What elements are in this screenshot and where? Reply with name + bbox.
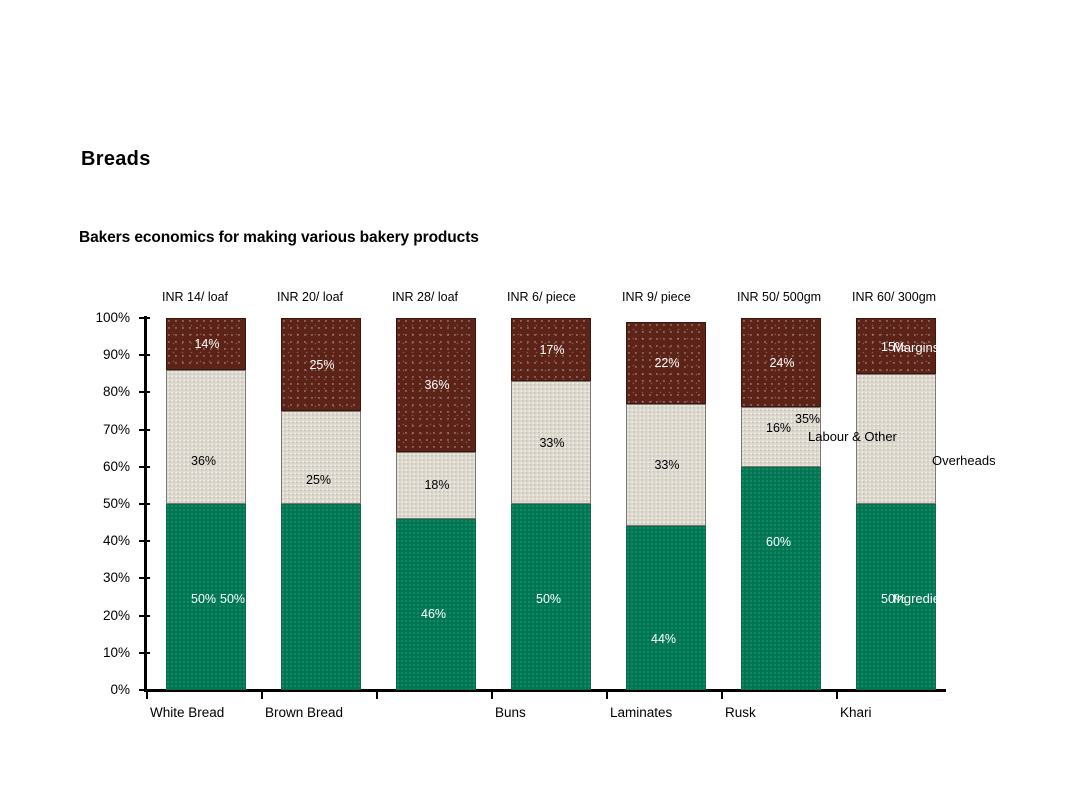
segment-value-label: 18% bbox=[397, 479, 477, 492]
x-axis-tick bbox=[146, 690, 148, 699]
bar-segment[interactable]: 50% bbox=[511, 504, 591, 690]
bar-segment[interactable]: 50% bbox=[166, 504, 246, 690]
bar-column[interactable]: 60%16%24% bbox=[741, 318, 821, 690]
x-axis-category-label: Rusk bbox=[725, 706, 756, 720]
x-axis-category-label: Buns bbox=[495, 706, 526, 720]
price-label: INR 50/ 500gm bbox=[737, 291, 821, 304]
callout-overheads: Overheads bbox=[932, 454, 996, 467]
segment-value-label: 50% bbox=[536, 593, 616, 606]
bar-segment[interactable]: 14% bbox=[166, 318, 246, 370]
x-axis-category-label: White Bread bbox=[150, 706, 224, 720]
price-label: INR 6/ piece bbox=[507, 291, 576, 304]
bar-segment[interactable]: 22% bbox=[626, 322, 706, 404]
bar-column[interactable]: 50%35%15% bbox=[856, 318, 936, 690]
bar-segment[interactable]: 33% bbox=[511, 381, 591, 504]
bar-segment[interactable]: 33% bbox=[626, 404, 706, 527]
price-label: INR 28/ loaf bbox=[392, 291, 458, 304]
segment-value-label: 14% bbox=[167, 338, 247, 351]
bar-segment[interactable]: 25% bbox=[281, 318, 361, 411]
y-axis-tick-label: 100% bbox=[70, 311, 130, 325]
x-axis-category-label: Brown Bread bbox=[265, 706, 343, 720]
segment-value-label: 36% bbox=[397, 379, 477, 392]
bar-column[interactable]: 50%25%25% bbox=[281, 318, 361, 690]
bar-column[interactable]: 46%18%36% bbox=[396, 318, 476, 690]
callout-labour-other: Labour & Other bbox=[808, 430, 897, 443]
segment-value-label: 36% bbox=[191, 455, 271, 468]
segment-value-label: 22% bbox=[627, 357, 707, 370]
bar-column[interactable]: 50%33%17% bbox=[511, 318, 591, 690]
y-axis-tick-label: 60% bbox=[70, 460, 130, 474]
bar-segment[interactable]: 18% bbox=[396, 452, 476, 519]
x-axis-tick bbox=[606, 690, 608, 699]
plot-area: 50%36%14%50%25%25%46%18%36%50%33%17%44%3… bbox=[146, 318, 946, 690]
callout-ingredients: Ingredients bbox=[893, 592, 957, 605]
x-axis-category-label: Khari bbox=[840, 706, 872, 720]
bar-column[interactable]: 50%36%14% bbox=[166, 318, 246, 690]
bar-segment[interactable]: 60% bbox=[741, 467, 821, 690]
bar-segment[interactable]: 36% bbox=[166, 370, 246, 504]
price-label: INR 9/ piece bbox=[622, 291, 691, 304]
segment-value-label: 46% bbox=[421, 608, 501, 621]
segment-value-label: 60% bbox=[766, 536, 846, 549]
callout-margins: Margins bbox=[893, 341, 939, 354]
y-axis-tick-label: 0% bbox=[70, 683, 130, 697]
segment-value-label: 25% bbox=[282, 359, 362, 372]
segment-value-label: 33% bbox=[627, 459, 707, 472]
y-axis-tick-label: 90% bbox=[70, 348, 130, 362]
bar-segment[interactable]: 36% bbox=[396, 318, 476, 452]
x-axis-tick bbox=[261, 690, 263, 699]
y-axis-tick-label: 70% bbox=[70, 423, 130, 437]
y-axis-tick-label: 30% bbox=[70, 571, 130, 585]
x-axis-category-label: Laminates bbox=[610, 706, 672, 720]
segment-value-label: 17% bbox=[512, 344, 592, 357]
segment-value-label: 50% bbox=[191, 593, 271, 606]
x-axis-tick bbox=[836, 690, 838, 699]
bar-segment[interactable]: 17% bbox=[511, 318, 591, 381]
y-axis-tick-label: 10% bbox=[70, 646, 130, 660]
price-label: INR 20/ loaf bbox=[277, 291, 343, 304]
bar-column[interactable]: 44%33%22% bbox=[626, 318, 706, 690]
segment-value-label: 24% bbox=[742, 357, 822, 370]
bar-segment[interactable]: 46% bbox=[396, 519, 476, 690]
y-axis-tick-label: 20% bbox=[70, 609, 130, 623]
bar-segment[interactable]: 24% bbox=[741, 318, 821, 407]
segment-value-label: 44% bbox=[651, 633, 731, 646]
stacked-bar-chart: INR 14/ loafINR 20/ loafINR 28/ loafINR … bbox=[0, 0, 1066, 800]
price-label: INR 60/ 300gm bbox=[852, 291, 936, 304]
x-axis-tick bbox=[721, 690, 723, 699]
y-axis-tick-label: 40% bbox=[70, 534, 130, 548]
y-axis-tick-label: 50% bbox=[70, 497, 130, 511]
y-axis-tick-label: 80% bbox=[70, 385, 130, 399]
x-axis-tick bbox=[376, 690, 378, 699]
x-axis-tick bbox=[491, 690, 493, 699]
bar-segment[interactable]: 44% bbox=[626, 526, 706, 690]
segment-value-label: 25% bbox=[306, 474, 386, 487]
segment-value-label: 33% bbox=[512, 437, 592, 450]
bar-segment[interactable]: 25% bbox=[281, 411, 361, 504]
price-label: INR 14/ loaf bbox=[162, 291, 228, 304]
bar-segment[interactable]: 50% bbox=[281, 504, 361, 690]
